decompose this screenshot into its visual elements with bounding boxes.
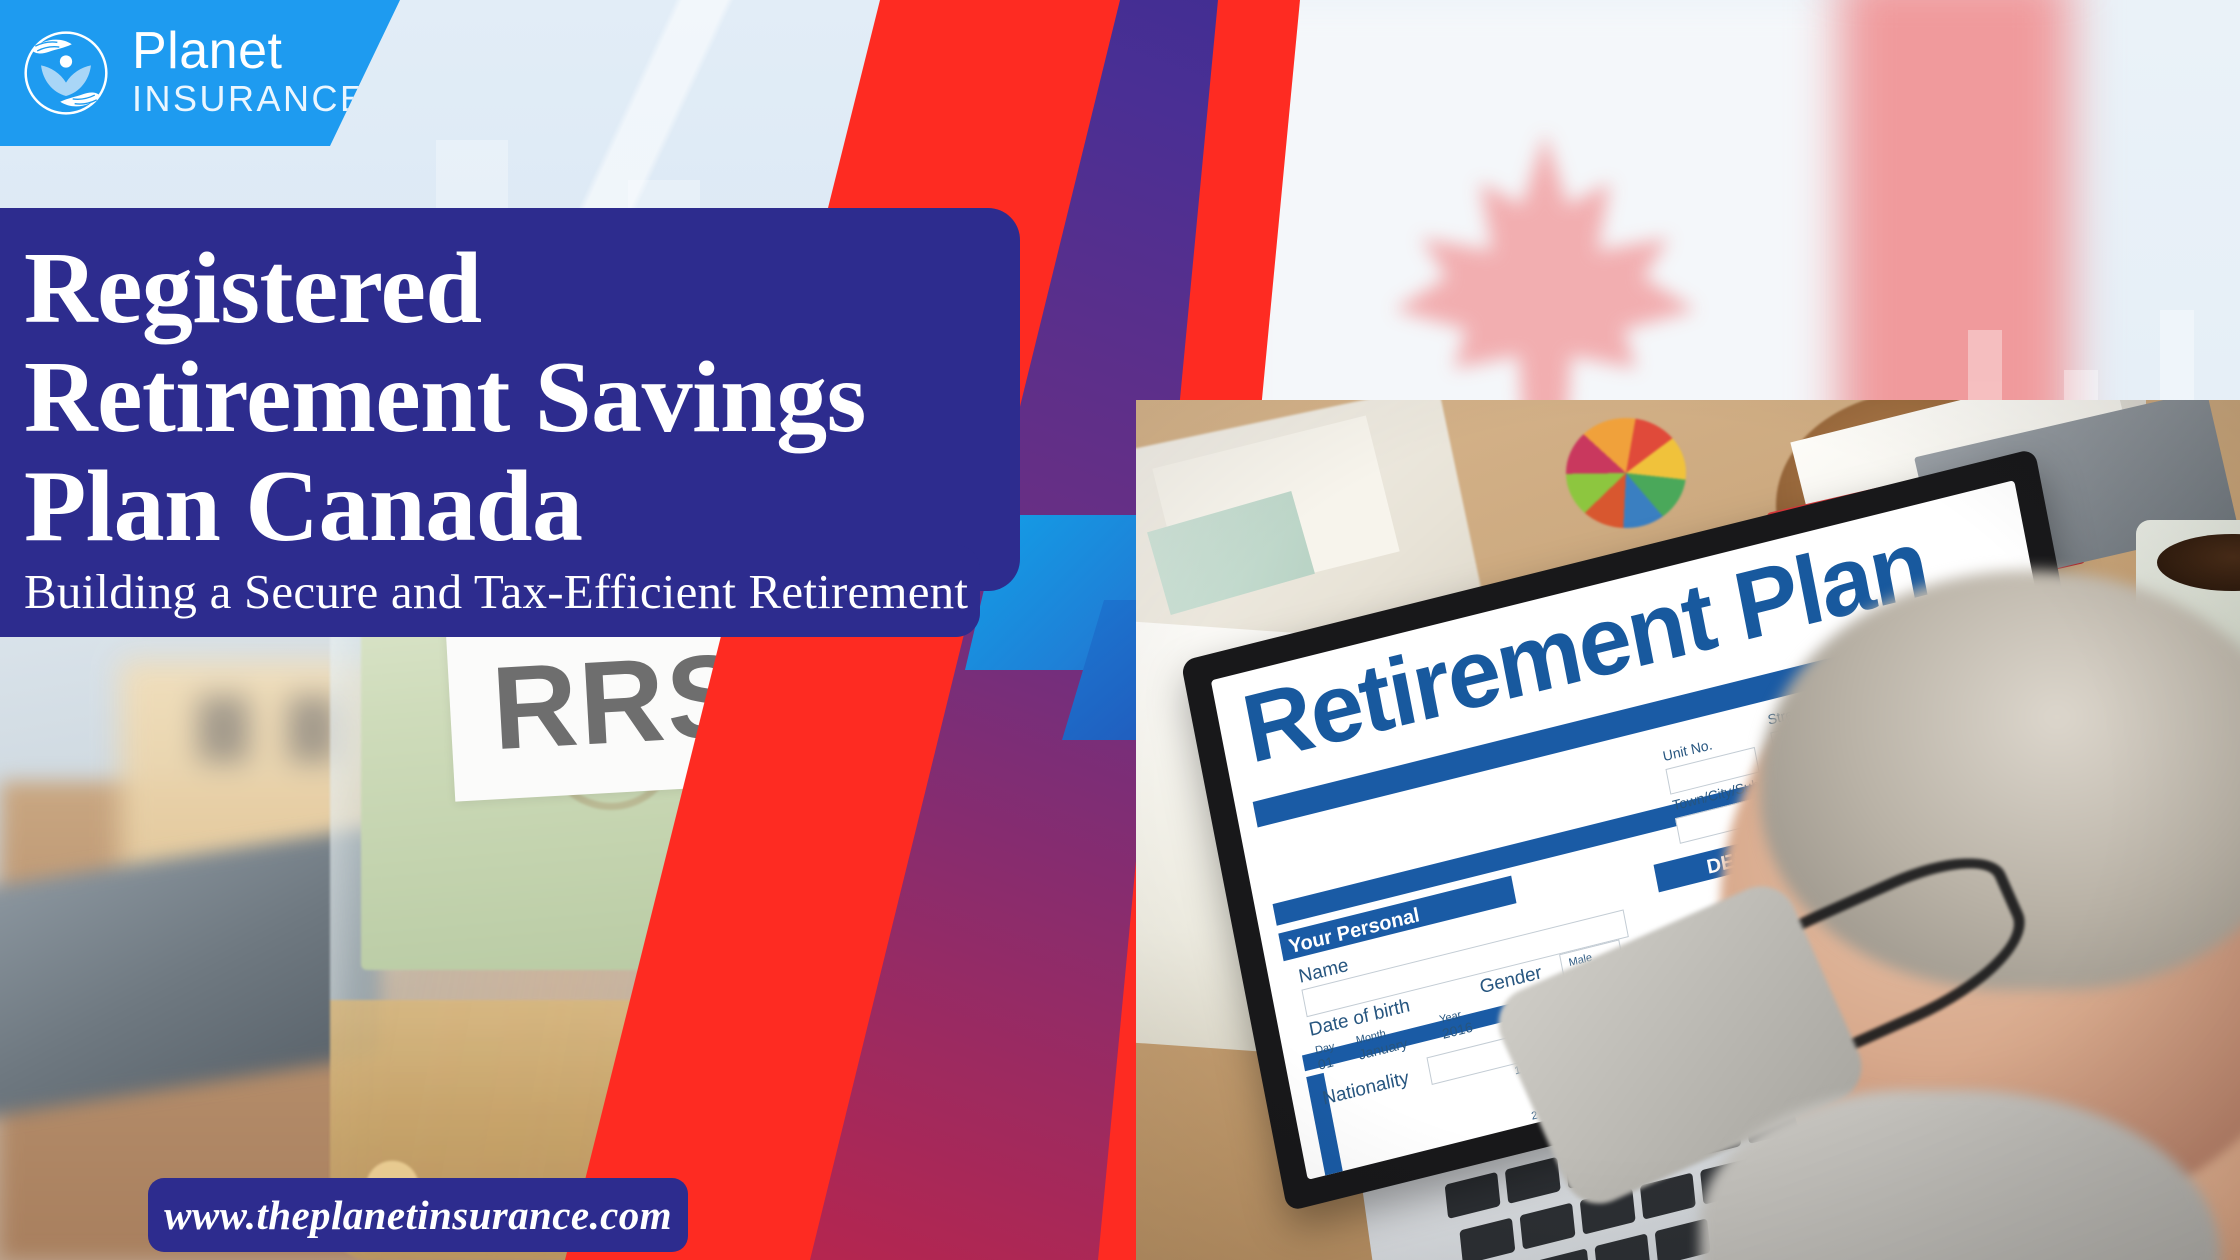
hero-title-box: Registered Retirement Savings Plan Canad…	[0, 208, 1020, 591]
poster-canvas: 20 RRSP	[0, 0, 2240, 1260]
person-elderly-man	[1640, 600, 2240, 1260]
logo-banner[interactable]: Planet INSURANCE	[0, 0, 400, 146]
page-title: Registered Retirement Savings Plan Canad…	[24, 234, 980, 561]
hero-photo-panel: Retirement Plan Your Personal DEPLOYMENT…	[1136, 400, 2240, 1260]
logo-wordmark: Planet INSURANCE	[132, 25, 367, 120]
hands-circle-person-icon	[18, 25, 114, 121]
website-url-pill[interactable]: www.theplanetinsurance.com	[148, 1178, 688, 1252]
page-subtitle: Building a Secure and Tax-Efficient Reti…	[24, 563, 968, 620]
hero-subtitle-bar: Building a Secure and Tax-Efficient Reti…	[0, 545, 980, 637]
logo-line-1: Planet	[132, 25, 367, 77]
rubber-band-ball	[1566, 418, 1686, 528]
dob-day-value[interactable]: 01	[1317, 1054, 1335, 1072]
logo-line-2: INSURANCE	[132, 77, 367, 120]
field-label-nationality: Nationality	[1321, 1069, 1411, 1109]
website-url-text: www.theplanetinsurance.com	[164, 1191, 672, 1239]
